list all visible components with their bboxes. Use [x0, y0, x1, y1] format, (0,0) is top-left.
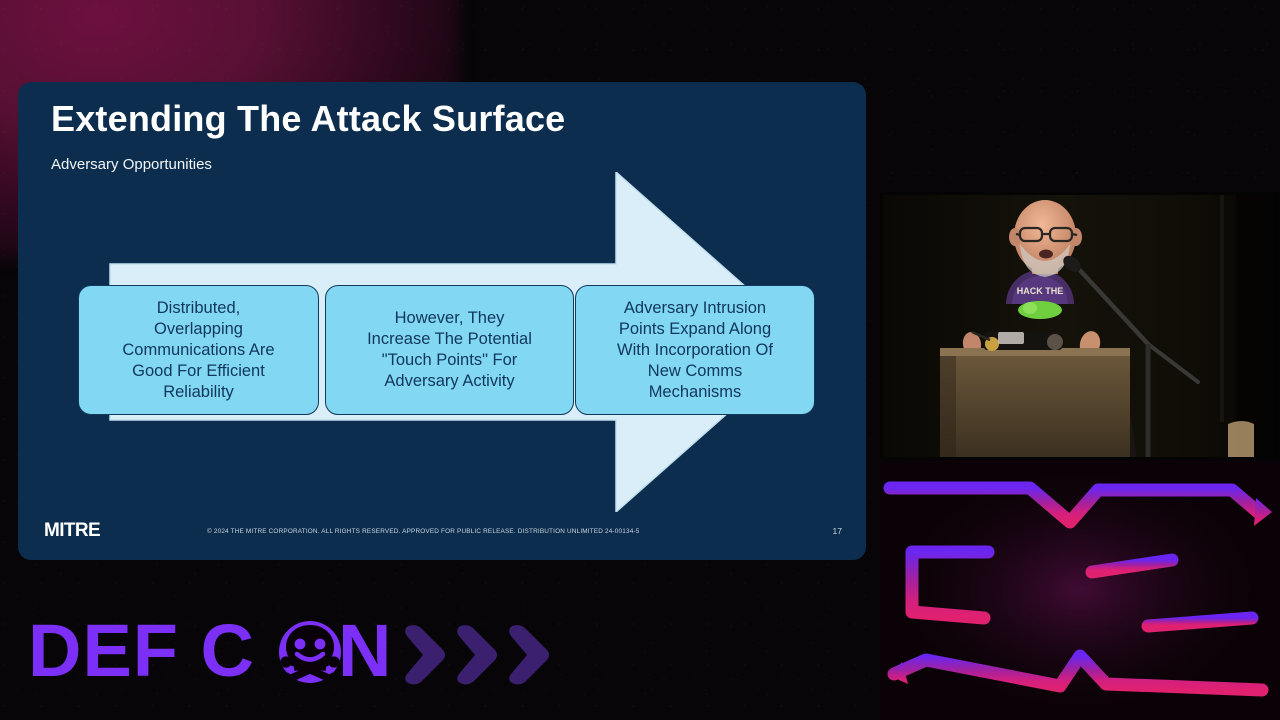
- chair-corner: [1228, 421, 1254, 460]
- process-box-text: Distributed, Overlapping Communications …: [122, 298, 274, 403]
- speaker-video-panel[interactable]: HACK THE: [880, 192, 1280, 460]
- slide-page-number: 17: [833, 526, 842, 536]
- process-box-text: Adversary Intrusion Points Expand Along …: [617, 298, 773, 403]
- defcon-wordmark-icon: DEF C N: [28, 612, 578, 692]
- process-box-intrusion-points[interactable]: Adversary Intrusion Points Expand Along …: [575, 285, 815, 415]
- presentation-slide: Extending The Attack Surface Adversary O…: [18, 82, 866, 560]
- speaker-video-frame: HACK THE: [880, 192, 1280, 460]
- defcon-letter-after-skull: N: [338, 612, 391, 692]
- defcon-logo: DEF C N: [28, 612, 578, 692]
- podium: [940, 332, 1130, 460]
- copyright-notice: © 2024 THE MITRE CORPORATION. ALL RIGHTS…: [207, 528, 640, 535]
- slide-subtitle: Adversary Opportunities: [51, 156, 212, 173]
- mitre-logo: MITRE: [44, 520, 100, 542]
- defcon-32-artwork: [880, 460, 1280, 720]
- page-title: Extending The Attack Surface: [51, 98, 565, 140]
- brand-line-lower: [1148, 618, 1252, 626]
- process-box-touch-points[interactable]: However, They Increase The Potential "To…: [325, 285, 574, 415]
- defcon-letters-before-skull: DEF C: [28, 612, 255, 692]
- defcon-chevrons-icon: [405, 625, 549, 684]
- process-box-text: However, They Increase The Potential "To…: [367, 308, 532, 392]
- shirt-text: HACK THE: [1017, 286, 1064, 296]
- process-box-efficiency[interactable]: Distributed, Overlapping Communications …: [78, 285, 319, 415]
- defcon-brand-graphic-panel: [880, 460, 1280, 720]
